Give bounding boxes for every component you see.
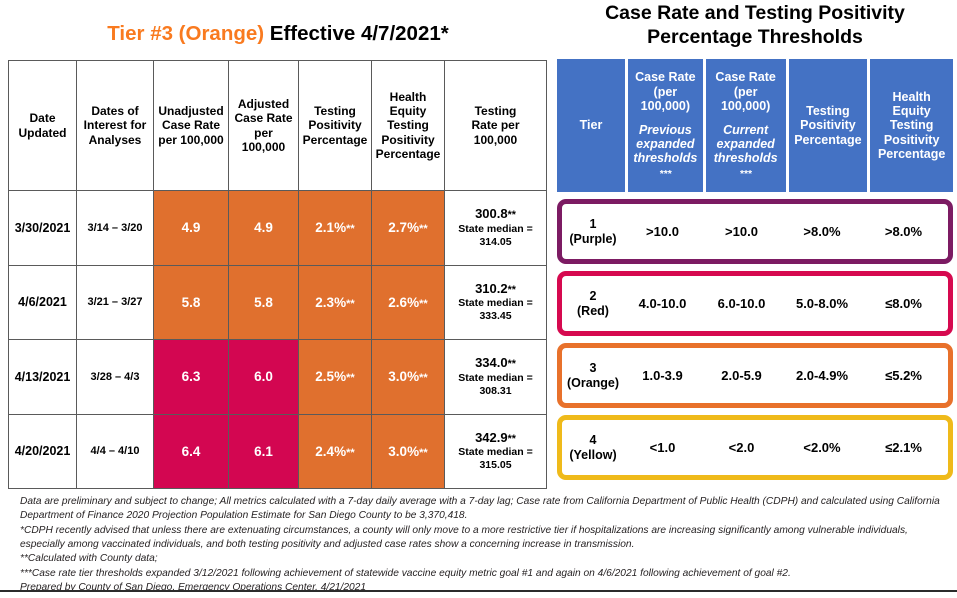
th-case-rate-previous-main: Case Rate(per100,000) bbox=[633, 70, 697, 113]
tier-label: 3(Orange) bbox=[562, 361, 624, 391]
cell-testing-rate: 300.8**State median =314.05 bbox=[445, 191, 547, 266]
footnote-line-1: Data are preliminary and subject to chan… bbox=[20, 495, 945, 523]
cell-health-equity-positivity: 2.6%** bbox=[372, 265, 445, 340]
cell-testing-positivity: 2.4%** bbox=[299, 414, 372, 489]
cell-date-updated: 4/13/2021 bbox=[9, 340, 77, 415]
footnotes: Data are preliminary and subject to chan… bbox=[20, 495, 945, 596]
footnote-line-4: ***Case rate tier thresholds expanded 3/… bbox=[20, 567, 945, 581]
right-title-line1: Case Rate and Testing Positivity bbox=[557, 2, 953, 26]
table-header-row: DateUpdated Dates ofInterest forAnalyses… bbox=[9, 61, 547, 191]
tier-case-rate-current: 2.0-5.9 bbox=[701, 368, 782, 383]
col-header-dates-of-interest: Dates ofInterest forAnalyses bbox=[77, 61, 154, 191]
col-header-testing-positivity: TestingPositivityPercentage bbox=[299, 61, 372, 191]
th-case-rate-current-main: Case Rate(per100,000) bbox=[714, 70, 778, 113]
cell-adjusted-case-rate: 4.9 bbox=[229, 191, 299, 266]
tier-row: 2(Red)4.0-10.06.0-10.05.0-8.0%≤8.0% bbox=[557, 271, 953, 336]
tier-row: 3(Orange)1.0-3.92.0-5.92.0-4.9%≤5.2% bbox=[557, 343, 953, 408]
tier-label: 1(Purple) bbox=[562, 217, 624, 247]
th-case-rate-previous: Case Rate(per100,000) Previousexpandedth… bbox=[628, 59, 703, 192]
cell-dates-of-interest: 3/14 – 3/20 bbox=[77, 191, 154, 266]
tier-row: 1(Purple)>10.0>10.0>8.0%>8.0% bbox=[557, 199, 953, 264]
col-header-health-equity: HealthEquityTestingPositivityPercentage bbox=[372, 61, 445, 191]
footnote-line-2: *CDPH recently advised that unless there… bbox=[20, 524, 945, 552]
tier-case-rate-current: <2.0 bbox=[701, 440, 782, 455]
cell-dates-of-interest: 4/4 – 4/10 bbox=[77, 414, 154, 489]
left-title-effective: Effective 4/7/2021* bbox=[264, 22, 449, 45]
right-title-line2: Percentage Thresholds bbox=[557, 26, 953, 50]
table-row: 4/20/20214/4 – 4/106.46.12.4%**3.0%**342… bbox=[9, 414, 547, 489]
right-table-title: Case Rate and Testing Positivity Percent… bbox=[557, 2, 953, 50]
tier-row: 4(Yellow)<1.0<2.0<2.0%≤2.1% bbox=[557, 415, 953, 480]
left-table-title: Tier #3 (Orange) Effective 4/7/2021* bbox=[8, 22, 548, 46]
tier-case-rate-previous: >10.0 bbox=[624, 224, 701, 239]
tier-case-rate-current: >10.0 bbox=[701, 224, 782, 239]
cell-unadjusted-case-rate: 6.4 bbox=[154, 414, 229, 489]
tier-testing-positivity: >8.0% bbox=[782, 224, 862, 239]
cell-testing-rate: 310.2**State median =333.45 bbox=[445, 265, 547, 340]
cell-adjusted-case-rate: 6.1 bbox=[229, 414, 299, 489]
cell-unadjusted-case-rate: 4.9 bbox=[154, 191, 229, 266]
th-tier: Tier bbox=[557, 59, 625, 192]
col-header-adjusted-case-rate: AdjustedCase Rateper 100,000 bbox=[229, 61, 299, 191]
cell-health-equity-positivity: 3.0%** bbox=[372, 340, 445, 415]
thresholds-header-row: Tier Case Rate(per100,000) Previousexpan… bbox=[557, 59, 953, 192]
tier-testing-positivity: <2.0% bbox=[782, 440, 862, 455]
cell-dates-of-interest: 3/21 – 3/27 bbox=[77, 265, 154, 340]
col-header-date-updated: DateUpdated bbox=[9, 61, 77, 191]
tier-testing-positivity: 5.0-8.0% bbox=[782, 296, 862, 311]
table-row: 3/30/20213/14 – 3/204.94.92.1%**2.7%**30… bbox=[9, 191, 547, 266]
cell-testing-rate: 334.0**State median =308.31 bbox=[445, 340, 547, 415]
cell-dates-of-interest: 3/28 – 4/3 bbox=[77, 340, 154, 415]
tier-case-rate-current: 6.0-10.0 bbox=[701, 296, 782, 311]
cell-health-equity-positivity: 3.0%** bbox=[372, 414, 445, 489]
footnote-line-3: **Calculated with County data; bbox=[20, 552, 945, 566]
tier-testing-positivity: 2.0-4.9% bbox=[782, 368, 862, 383]
thresholds-table: Tier Case Rate(per100,000) Previousexpan… bbox=[557, 59, 953, 484]
cell-testing-rate: 342.9**State median =315.05 bbox=[445, 414, 547, 489]
cell-date-updated: 4/20/2021 bbox=[9, 414, 77, 489]
cell-date-updated: 4/6/2021 bbox=[9, 265, 77, 340]
th-case-rate-previous-sub: Previousexpandedthresholds*** bbox=[633, 123, 697, 181]
cell-date-updated: 3/30/2021 bbox=[9, 191, 77, 266]
table-row: 4/13/20213/28 – 4/36.36.02.5%**3.0%**334… bbox=[9, 340, 547, 415]
table-row: 4/6/20213/21 – 3/275.85.82.3%**2.6%**310… bbox=[9, 265, 547, 340]
cell-unadjusted-case-rate: 5.8 bbox=[154, 265, 229, 340]
tier-case-rate-previous: 4.0-10.0 bbox=[624, 296, 701, 311]
cell-adjusted-case-rate: 5.8 bbox=[229, 265, 299, 340]
th-health-equity: HealthEquityTestingPositivityPercentage bbox=[870, 59, 953, 192]
cell-testing-positivity: 2.1%** bbox=[299, 191, 372, 266]
tier-health-equity: ≤5.2% bbox=[862, 368, 945, 383]
left-title-tier: Tier #3 (Orange) bbox=[107, 22, 264, 45]
th-case-rate-current: Case Rate(per100,000) Currentexpandedthr… bbox=[706, 59, 786, 192]
cell-adjusted-case-rate: 6.0 bbox=[229, 340, 299, 415]
tier-case-rate-previous: <1.0 bbox=[624, 440, 701, 455]
th-testing-positivity: TestingPositivityPercentage bbox=[789, 59, 868, 192]
cell-testing-positivity: 2.3%** bbox=[299, 265, 372, 340]
th-case-rate-current-sub: Currentexpandedthresholds*** bbox=[714, 123, 778, 181]
tier-health-equity: ≤2.1% bbox=[862, 440, 945, 455]
cell-testing-positivity: 2.5%** bbox=[299, 340, 372, 415]
tier-label: 2(Red) bbox=[562, 289, 624, 319]
cell-unadjusted-case-rate: 6.3 bbox=[154, 340, 229, 415]
cell-health-equity-positivity: 2.7%** bbox=[372, 191, 445, 266]
metrics-table: DateUpdated Dates ofInterest forAnalyses… bbox=[8, 60, 547, 489]
footnote-line-5: Prepared by County of San Diego, Emergen… bbox=[20, 581, 945, 595]
col-header-unadjusted-case-rate: UnadjustedCase Rateper 100,000 bbox=[154, 61, 229, 191]
col-header-testing-rate: TestingRate per100,000 bbox=[445, 61, 547, 191]
infographic-page: Tier #3 (Orange) Effective 4/7/2021* Cas… bbox=[0, 0, 957, 598]
tier-health-equity: ≤8.0% bbox=[862, 296, 945, 311]
tier-label: 4(Yellow) bbox=[562, 433, 624, 463]
tier-health-equity: >8.0% bbox=[862, 224, 945, 239]
bottom-divider bbox=[0, 590, 957, 592]
tier-case-rate-previous: 1.0-3.9 bbox=[624, 368, 701, 383]
